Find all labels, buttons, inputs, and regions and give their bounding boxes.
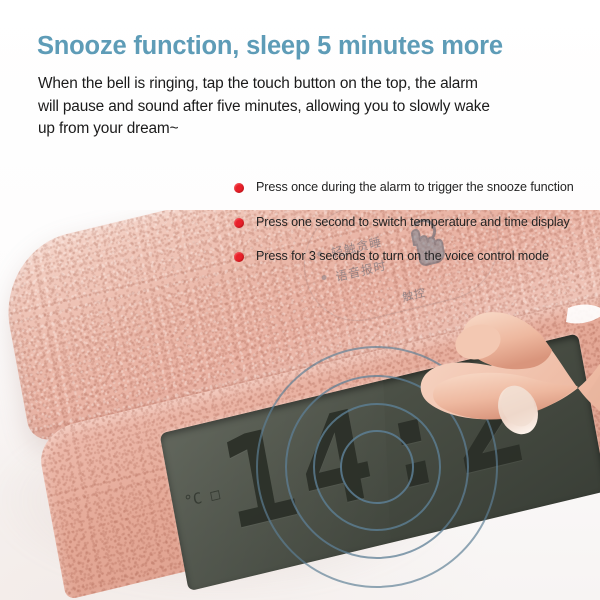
bullet-dot-icon [234, 252, 244, 262]
list-item-label: Press one second to switch temperature a… [256, 215, 570, 230]
description-paragraph: When the bell is ringing, tap the touch … [38, 73, 490, 141]
list-item: Press once during the alarm to trigger t… [234, 180, 594, 215]
list-item-label: Press for 3 seconds to turn on the voice… [256, 249, 549, 264]
list-item: Press one second to switch temperature a… [234, 215, 594, 250]
list-item-label: Press once during the alarm to trigger t… [256, 180, 574, 195]
list-item: Press for 3 seconds to turn on the voice… [234, 249, 594, 284]
feature-bullet-list: Press once during the alarm to trigger t… [234, 180, 594, 284]
bullet-dot-icon [234, 218, 244, 228]
page-title: Snooze function, sleep 5 minutes more [37, 32, 577, 61]
bullet-dot-icon [234, 183, 244, 193]
product-feature-banner: 轻触贪睡 语音报时 触控 °C □ 14:2 [0, 0, 600, 600]
